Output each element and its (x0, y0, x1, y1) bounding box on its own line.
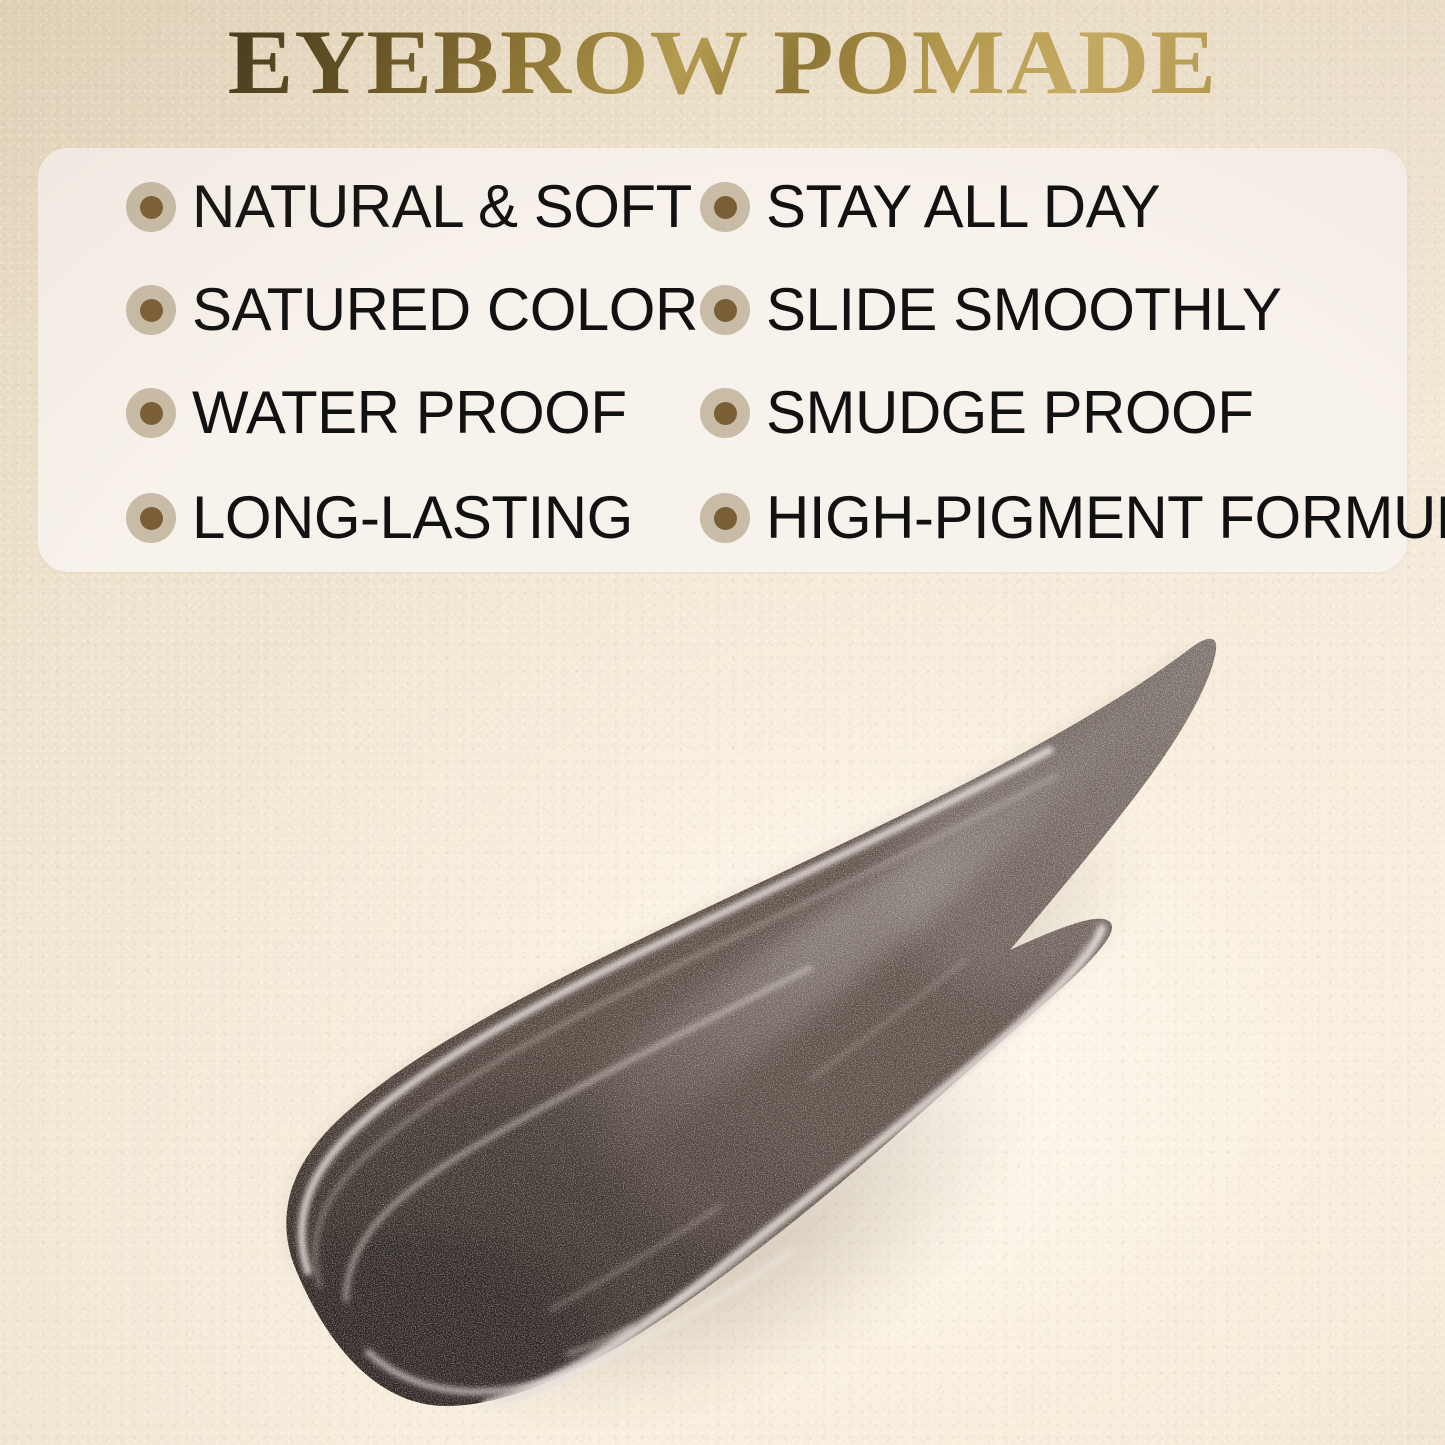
feature-label: STAY ALL DAY (766, 177, 1160, 237)
pomade-smear-swatch (250, 610, 1250, 1430)
feature-label: SMUDGE PROOF (766, 383, 1253, 443)
bullet-dot-icon (126, 388, 176, 438)
feature-item-long-lasting: LONG-LASTING (126, 487, 633, 549)
bullet-dot-icon (700, 388, 750, 438)
feature-label: NATURAL & SOFT (192, 177, 692, 237)
bullet-dot-icon (126, 182, 176, 232)
feature-label: LONG-LASTING (192, 488, 633, 548)
feature-item-water-proof: WATER PROOF (126, 382, 626, 444)
page-title: EYEBROW POMADE (228, 16, 1217, 108)
product-swatch-area (0, 600, 1445, 1445)
feature-item-natural-soft: NATURAL & SOFT (126, 176, 692, 238)
feature-item-smudge-proof: SMUDGE PROOF (700, 382, 1253, 444)
feature-item-satured-color: SATURED COLOR (126, 279, 698, 341)
feature-item-stay-all-day: STAY ALL DAY (700, 176, 1160, 238)
feature-label: SLIDE SMOOTHLY (766, 280, 1281, 340)
product-feature-poster: EYEBROW POMADE NATURAL & SOFT SATURED CO… (0, 0, 1445, 1445)
page-title-container: EYEBROW POMADE (0, 16, 1445, 108)
bullet-dot-icon (126, 493, 176, 543)
bullet-dot-icon (700, 493, 750, 543)
bullet-dot-icon (126, 285, 176, 335)
feature-label: WATER PROOF (192, 383, 626, 443)
feature-list-card: NATURAL & SOFT SATURED COLOR WATER PROOF… (38, 148, 1407, 572)
bullet-dot-icon (700, 285, 750, 335)
feature-grid: NATURAL & SOFT SATURED COLOR WATER PROOF… (38, 148, 1407, 572)
feature-item-high-pigment-formula: HIGH-PIGMENT FORMULA (700, 487, 1445, 549)
pomade-smear-illustration (250, 610, 1250, 1430)
feature-label: HIGH-PIGMENT FORMULA (766, 488, 1445, 548)
feature-item-slide-smoothly: SLIDE SMOOTHLY (700, 279, 1281, 341)
feature-label: SATURED COLOR (192, 280, 698, 340)
bullet-dot-icon (700, 182, 750, 232)
